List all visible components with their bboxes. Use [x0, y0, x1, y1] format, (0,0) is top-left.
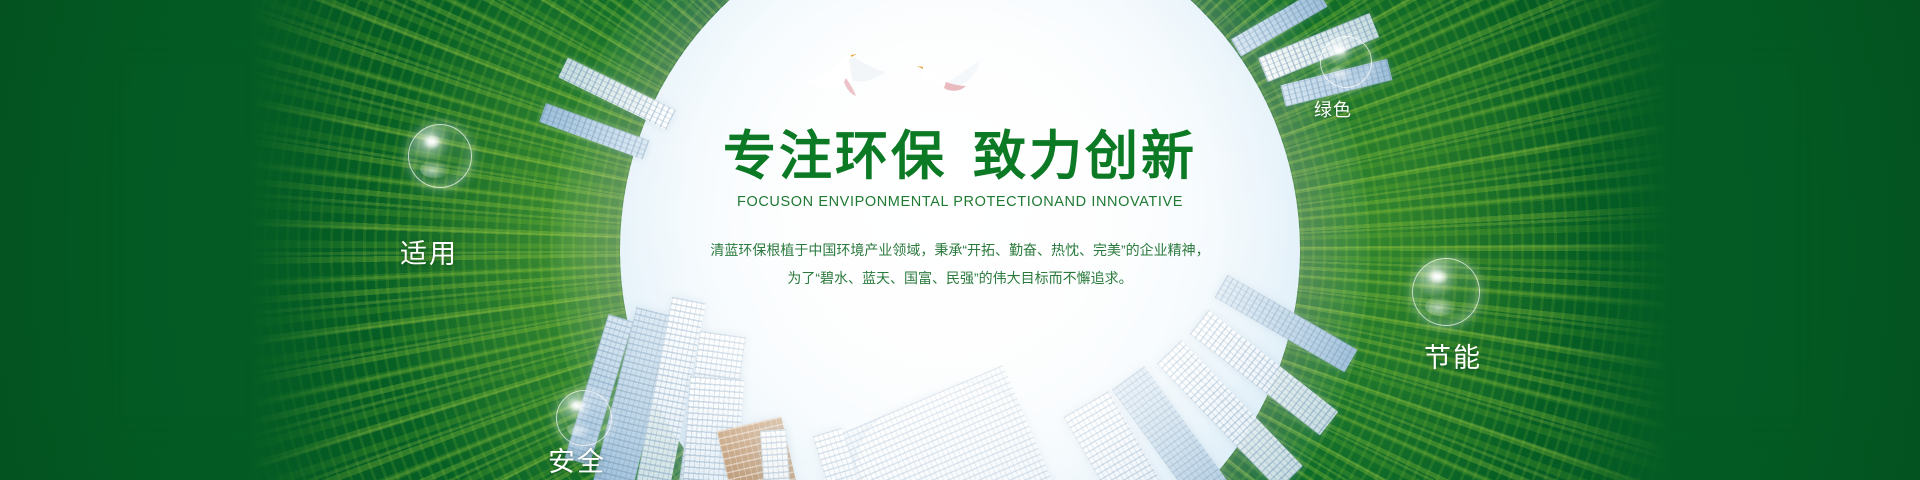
bubble-label-shiyong: 适用: [400, 232, 458, 271]
seagull-right-icon: [912, 48, 988, 105]
hero-banner: 适用 安全 绿色 节能 专注环保致力创新 FOCUSON ENVIPONMENT…: [0, 0, 1920, 480]
bubble-icon-shiyong: [408, 124, 472, 188]
bubble-label-jieneng: 节能: [1424, 336, 1482, 375]
headline-part-1: 专注环保: [723, 127, 947, 186]
seagull-left-icon: [800, 38, 896, 103]
bubble-label-anquan: 安全: [548, 440, 606, 479]
bubble-icon-jieneng: [1412, 258, 1480, 326]
subheadline: FOCUSON ENVIPONMENTAL PROTECTIONAND INNO…: [580, 194, 1340, 210]
window-grid: [837, 365, 1085, 480]
page-title: 专注环保致力创新: [580, 128, 1340, 185]
bubble-icon-lvse: [1320, 36, 1372, 88]
left-green-edge: [0, 0, 250, 480]
bubble-icon-anquan: [556, 390, 612, 446]
hero-description-line-1: 清蓝环保根植于中国环境产业领域，秉承“开拓、勤奋、热忱、完美”的企业精神，: [580, 236, 1340, 264]
hero-description: 清蓝环保根植于中国环境产业领域，秉承“开拓、勤奋、热忱、完美”的企业精神， 为了…: [580, 236, 1340, 292]
headline-part-2: 致力创新: [973, 127, 1197, 186]
hero-description-line-2: 为了“碧水、蓝天、国富、民强”的伟大目标而不懈追求。: [580, 264, 1340, 292]
hero-copy-block: 专注环保致力创新 FOCUSON ENVIPONMENTAL PROTECTIO…: [580, 128, 1340, 292]
right-green-edge: [1670, 0, 1920, 480]
bubble-label-lvse: 绿色: [1314, 96, 1352, 122]
